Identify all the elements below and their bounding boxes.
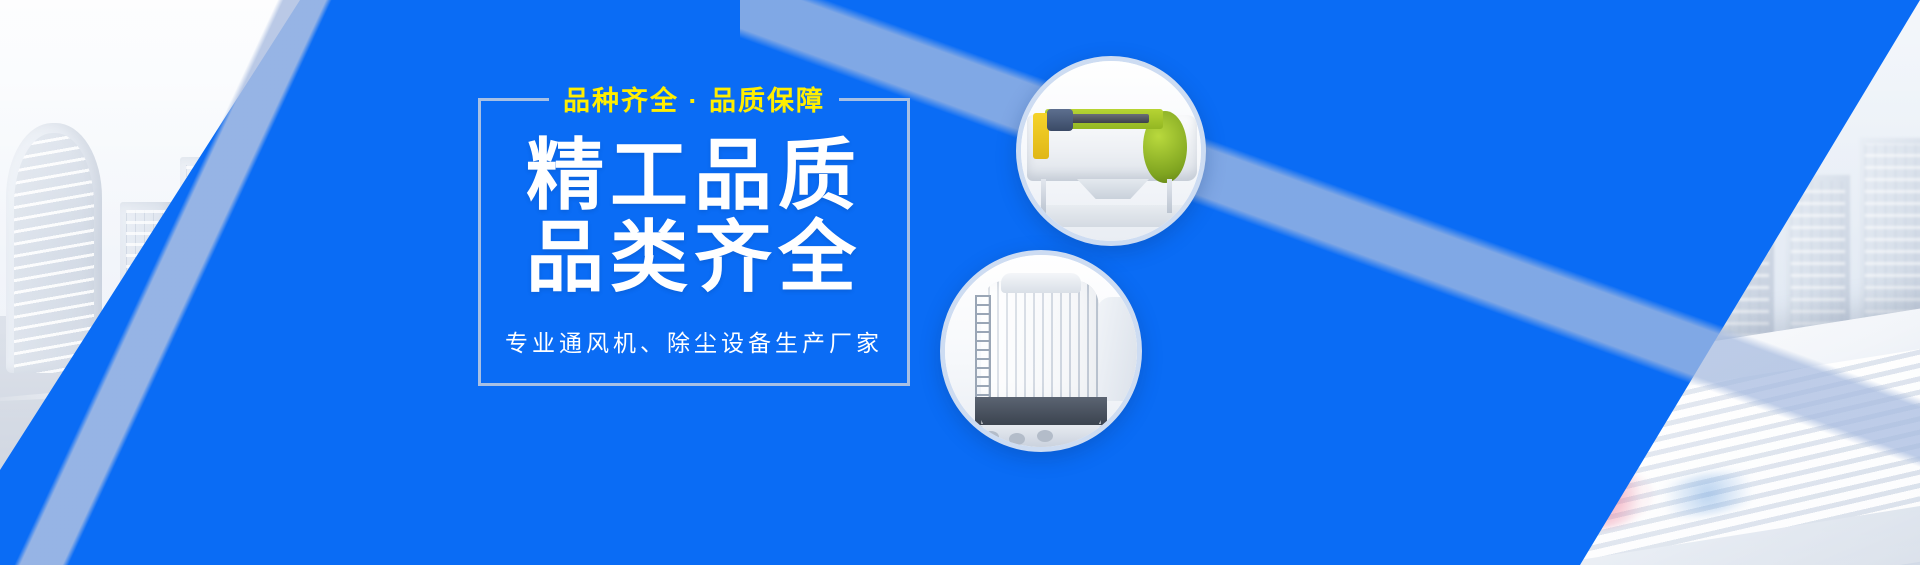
- product-photo-dust-collector: [1021, 61, 1201, 241]
- frame-bottom-rule: [478, 383, 910, 386]
- subtitle: 专业通风机、除尘设备生产厂家: [478, 324, 910, 358]
- product-circle-dust-collector: [1016, 56, 1206, 246]
- headline-frame: 品种齐全 · 品质保障 精工品质 品类齐全 专业通风机、除尘设备生产厂家: [478, 86, 910, 386]
- tagline-text: 品种齐全 · 品质保障: [549, 86, 839, 116]
- headline-line-1: 精工品质: [478, 134, 910, 216]
- machine-ground: [1021, 205, 1201, 227]
- machine-motor: [1047, 109, 1073, 131]
- product-photo-cooling-tower: [945, 255, 1137, 447]
- product-circle-cooling-tower: [940, 250, 1142, 452]
- cooling-tower-secondary: [1095, 297, 1142, 401]
- promo-banner: 品种齐全 · 品质保障 精工品质 品类齐全 专业通风机、除尘设备生产厂家: [0, 0, 1920, 565]
- cooling-tower-shell: [981, 281, 1099, 399]
- headline: 精工品质 品类齐全: [478, 134, 910, 298]
- headline-line-2: 品类齐全: [478, 216, 910, 298]
- machine-leg: [1041, 179, 1046, 213]
- cooling-tower-ladder: [975, 295, 991, 401]
- machine-hopper: [1077, 179, 1149, 199]
- machine-leg: [1167, 179, 1172, 213]
- cooling-tower-cap: [1001, 273, 1081, 293]
- cooling-tower-frame-band: [975, 397, 1107, 427]
- tagline: 品种齐全 · 品质保障: [478, 86, 910, 116]
